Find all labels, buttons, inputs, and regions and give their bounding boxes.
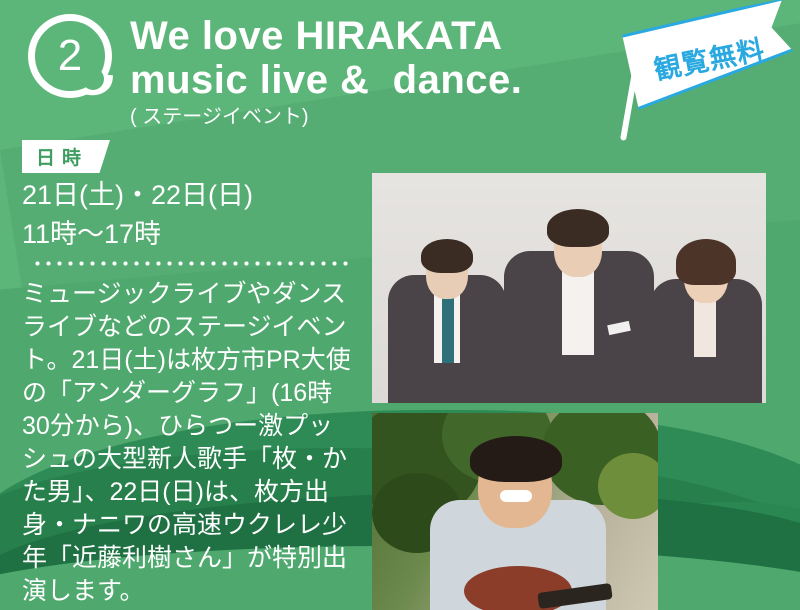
page-title-line-2: music live & dance.	[130, 58, 522, 102]
photo-person-left	[388, 253, 506, 403]
datetime-line-2: 11時〜17時	[22, 218, 360, 251]
photo-person-right	[650, 255, 762, 403]
ukulele-boy-photo	[372, 413, 658, 610]
event-description: ミュージックライブやダンスライブなどのステージイベント。21日(土)は枚方市PR…	[22, 278, 352, 608]
section-number: 2	[28, 14, 112, 98]
dotted-divider	[32, 261, 348, 266]
datetime-tag-label: 日時	[22, 140, 110, 173]
speech-bubble-number-icon: 2	[28, 14, 112, 98]
foliage-5	[598, 453, 658, 519]
page-title-line-1: We love HIRAKATA	[130, 14, 522, 58]
page-subtitle: ( ステージイベント)	[130, 104, 522, 130]
flyer-header: 2 We love HIRAKATA music live & dance. (…	[0, 0, 800, 150]
free-admission-flag-badge: 観覧無料	[608, 8, 796, 143]
event-flyer-panel: 2 We love HIRAKATA music live & dance. (…	[0, 0, 800, 610]
title-block: We love HIRAKATA music live & dance. ( ス…	[130, 14, 522, 130]
photo-person-center	[504, 225, 654, 403]
band-trio-photo	[372, 173, 766, 403]
flag-banner-shape: 観覧無料	[619, 0, 798, 115]
photo-boy	[430, 470, 606, 610]
flyer-left-column: 日時 21日(土)・22日(日) 11時〜17時 ミュージックライブやダンスライ…	[0, 140, 360, 610]
datetime-line-1: 21日(土)・22日(日)	[22, 179, 360, 212]
free-admission-label: 観覧無料	[619, 0, 798, 115]
